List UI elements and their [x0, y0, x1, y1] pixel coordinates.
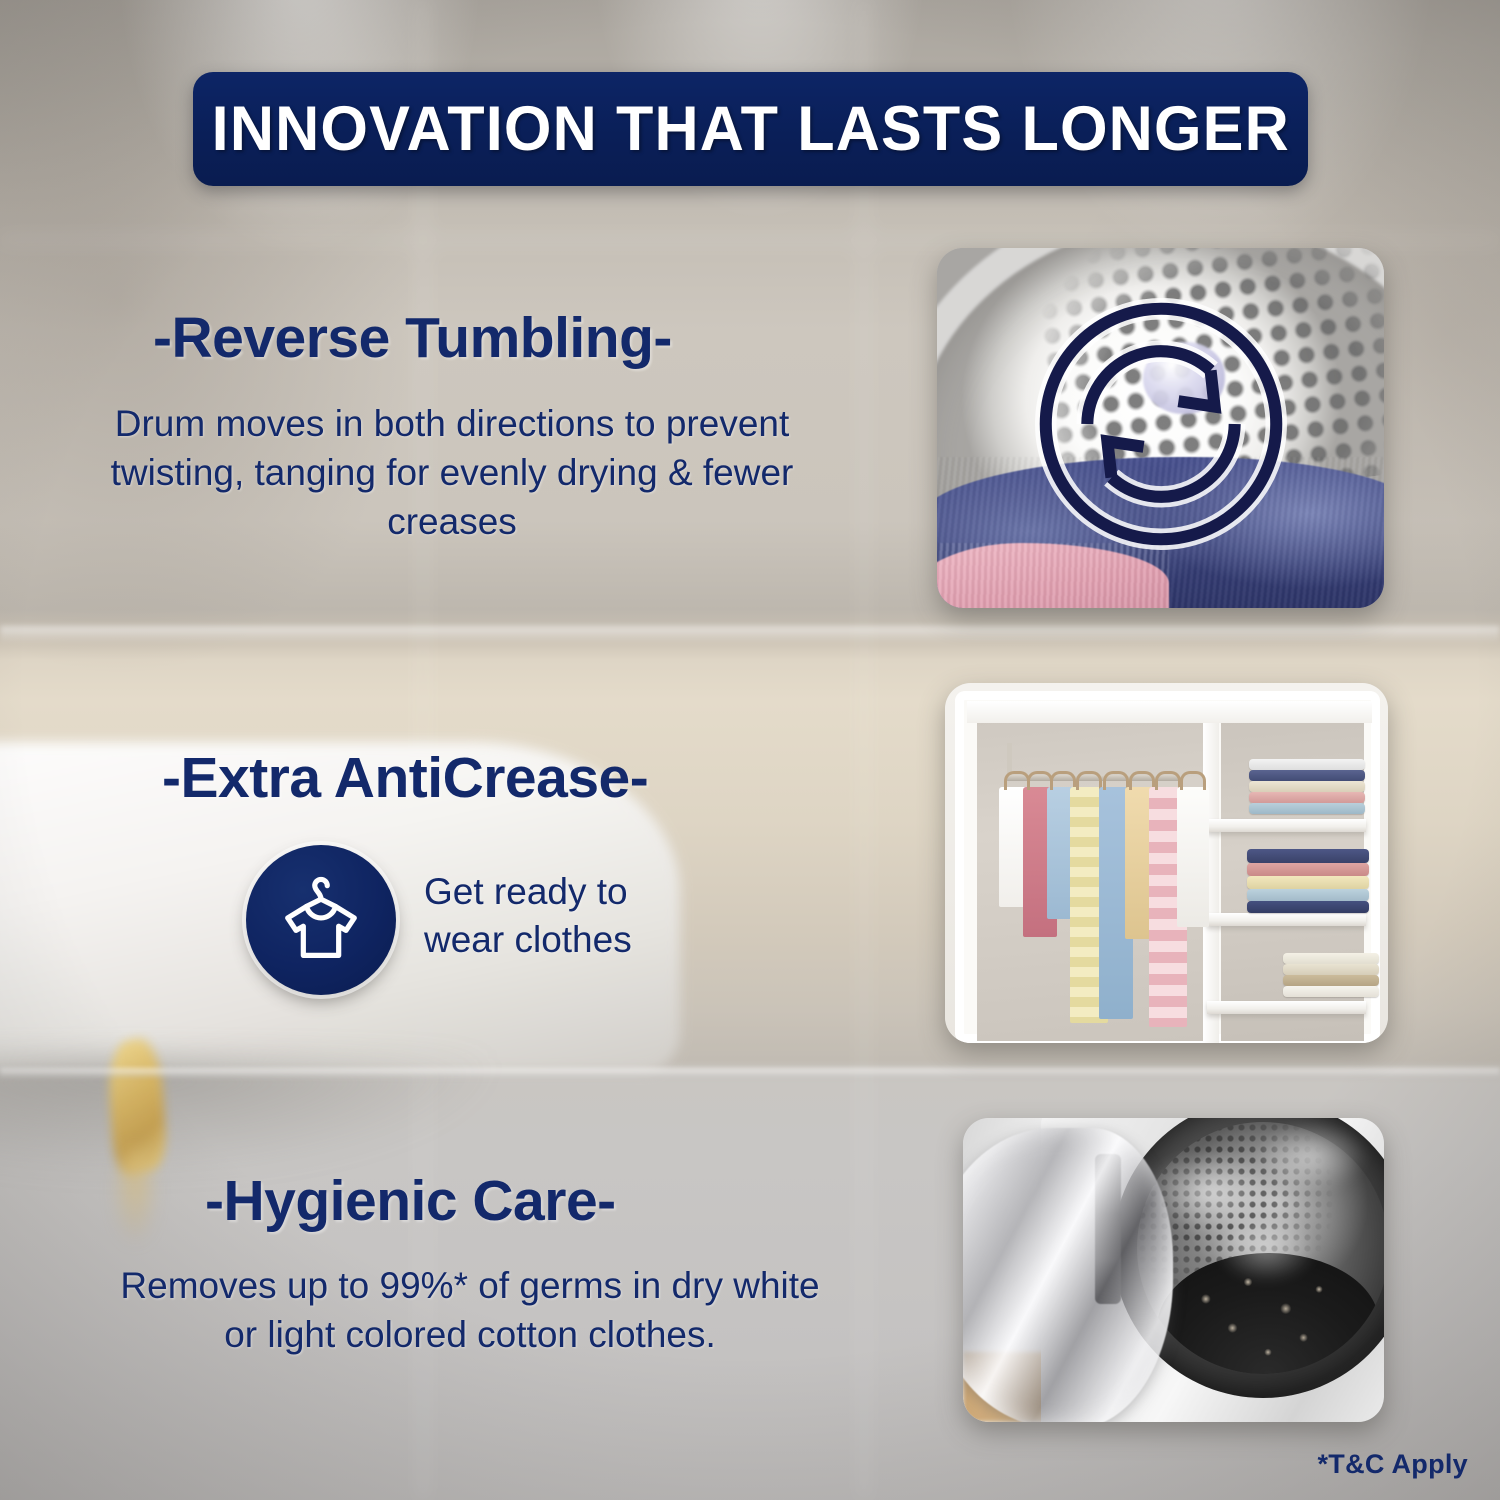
section-1-heading: -Reverse Tumbling-: [153, 305, 672, 371]
folded-item: [1283, 986, 1379, 997]
folded-item: [1283, 964, 1379, 975]
open-washer-photo: [963, 1118, 1384, 1422]
section-2-heading: -Extra AntiCrease-: [162, 745, 648, 811]
dryer-drum-photo: [937, 248, 1384, 608]
wardrobe-photo-card: [945, 683, 1388, 1043]
folded-item: [1249, 770, 1365, 781]
terms-footnote: *T&C Apply: [1318, 1449, 1469, 1480]
folded-item: [1249, 792, 1365, 803]
wardrobe-top-panel: [967, 701, 1372, 723]
wardrobe-shelf-1: [1207, 819, 1366, 832]
section-3-body: Removes up to 99%* of germs in dry white…: [120, 1262, 820, 1360]
folded-stack-middle: [1247, 849, 1369, 913]
anticrease-badge-caption: Get ready to wear clothes: [424, 868, 694, 964]
folded-item: [1247, 901, 1369, 913]
anticrease-badge: [246, 845, 396, 995]
wardrobe-frame: [955, 691, 1380, 1043]
folded-item: [1249, 781, 1365, 792]
folded-item: [1249, 759, 1365, 770]
reverse-tumbling-photo-card: [937, 248, 1384, 608]
folded-stack-bottom: [1283, 953, 1379, 995]
folded-item: [1249, 803, 1365, 814]
wardrobe-photo: [945, 683, 1388, 1043]
folded-item: [1247, 876, 1369, 889]
folded-item: [1283, 975, 1379, 986]
wardrobe-shelf-3: [1207, 1001, 1366, 1014]
section-3-heading: -Hygienic Care-: [205, 1168, 616, 1234]
open-glass-door: [963, 1128, 1173, 1422]
folded-item: [1283, 953, 1379, 964]
folded-item: [1247, 849, 1369, 863]
hanging-shirt-white-2: [1177, 787, 1209, 927]
section-1-body: Drum moves in both directions to prevent…: [90, 400, 814, 546]
folded-stack-top: [1249, 759, 1365, 817]
reverse-rotation-icon: [1027, 290, 1295, 558]
product-feature-poster: INNOVATION THAT LASTS LONGER -Reverse Tu…: [0, 0, 1500, 1500]
header-banner: INNOVATION THAT LASTS LONGER: [193, 72, 1308, 186]
banner-title: INNOVATION THAT LASTS LONGER: [211, 93, 1289, 165]
folded-item: [1247, 889, 1369, 901]
wardrobe-shelf-2: [1207, 913, 1366, 926]
folded-item: [1247, 863, 1369, 876]
tshirt-on-hanger-icon: [269, 868, 373, 972]
hygienic-care-photo-card: [963, 1118, 1384, 1422]
